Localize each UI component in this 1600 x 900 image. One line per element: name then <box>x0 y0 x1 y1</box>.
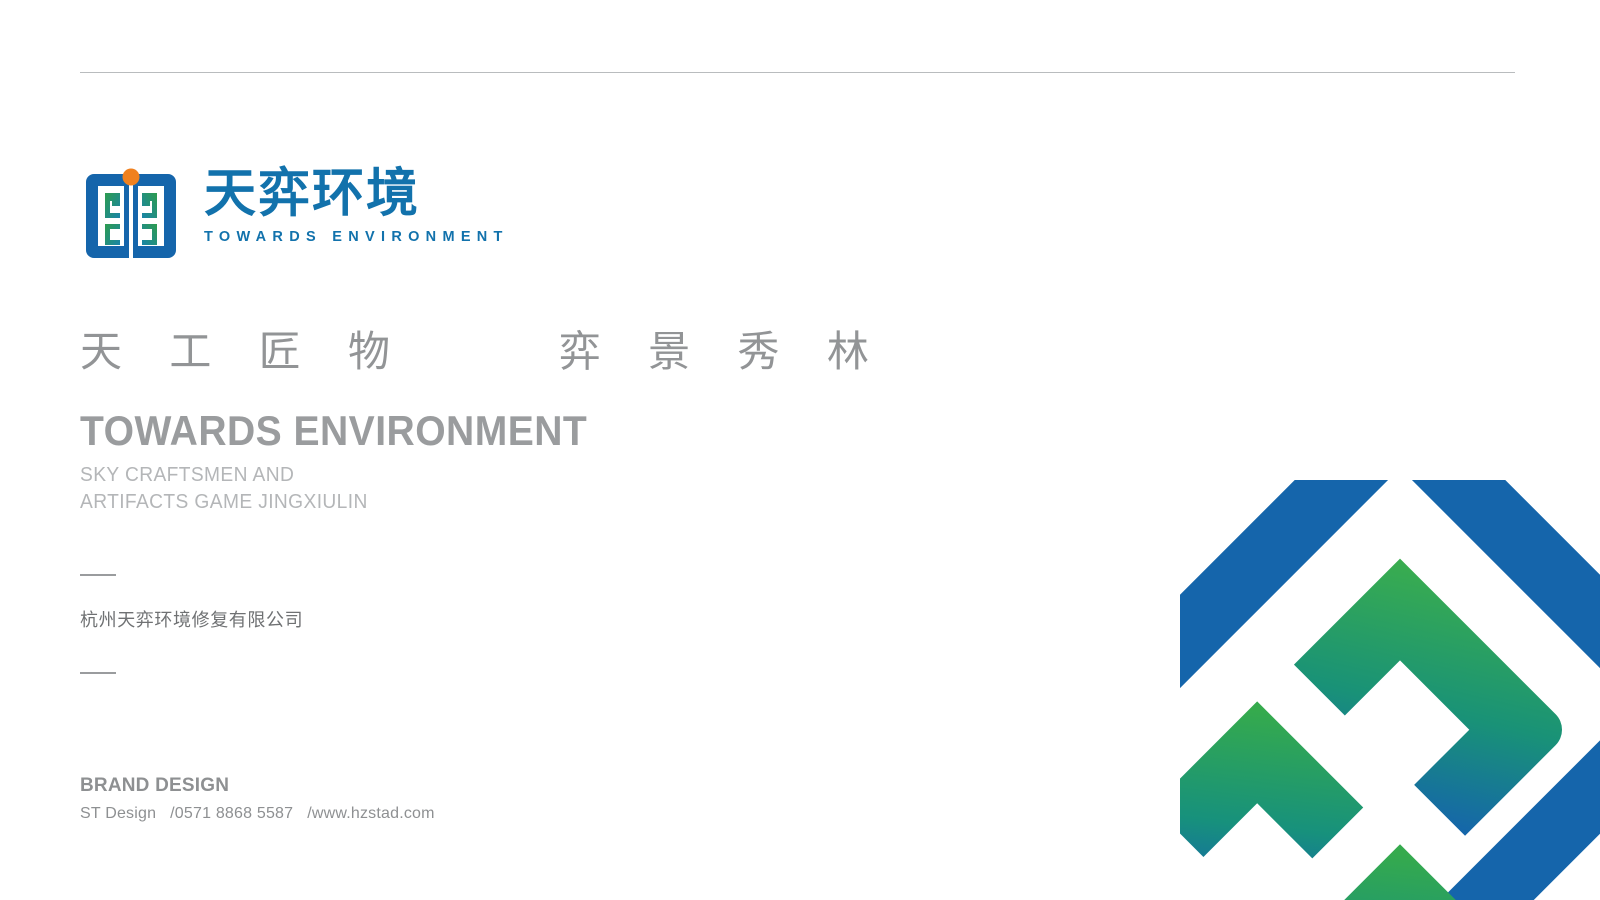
logo-wordmark: 天弈环境 TOWARDS ENVIRONMENT <box>204 168 509 245</box>
footer-block: BRAND DESIGN ST Design /0571 8868 5587 /… <box>80 774 435 824</box>
logo-english-name: TOWARDS ENVIRONMENT <box>204 229 509 245</box>
company-name: 杭州天弈环境修复有限公司 <box>80 606 303 632</box>
subtitle-line-2: ARTIFACTS GAME JINGXIULIN <box>80 489 368 516</box>
brand-logo-lockup: 天弈环境 TOWARDS ENVIRONMENT <box>80 168 509 264</box>
subtitle-line-1: SKY CRAFTSMEN AND <box>80 462 368 489</box>
corner-decoration-graphic <box>1180 480 1600 900</box>
logo-mark-icon <box>80 168 182 264</box>
slogan-chinese: 天 工 匠 物 弈 景 秀 林 <box>80 326 886 379</box>
footer-contact-line: ST Design /0571 8868 5587 /www.hzstad.co… <box>80 804 435 824</box>
slogan-english-subtitle: SKY CRAFTSMEN AND ARTIFACTS GAME JINGXIU… <box>80 462 368 516</box>
slogan-english-headline: TOWARDS ENVIRONMENT <box>80 408 587 454</box>
divider-dash-below-company <box>80 672 116 674</box>
brand-cover-page: 天弈环境 TOWARDS ENVIRONMENT 天 工 匠 物 弈 景 秀 林… <box>0 0 1600 900</box>
footer-title: BRAND DESIGN <box>80 774 435 798</box>
divider-dash-above-company <box>80 574 116 576</box>
logo-chinese-name: 天弈环境 <box>204 168 509 220</box>
top-divider-rule <box>80 72 1515 73</box>
